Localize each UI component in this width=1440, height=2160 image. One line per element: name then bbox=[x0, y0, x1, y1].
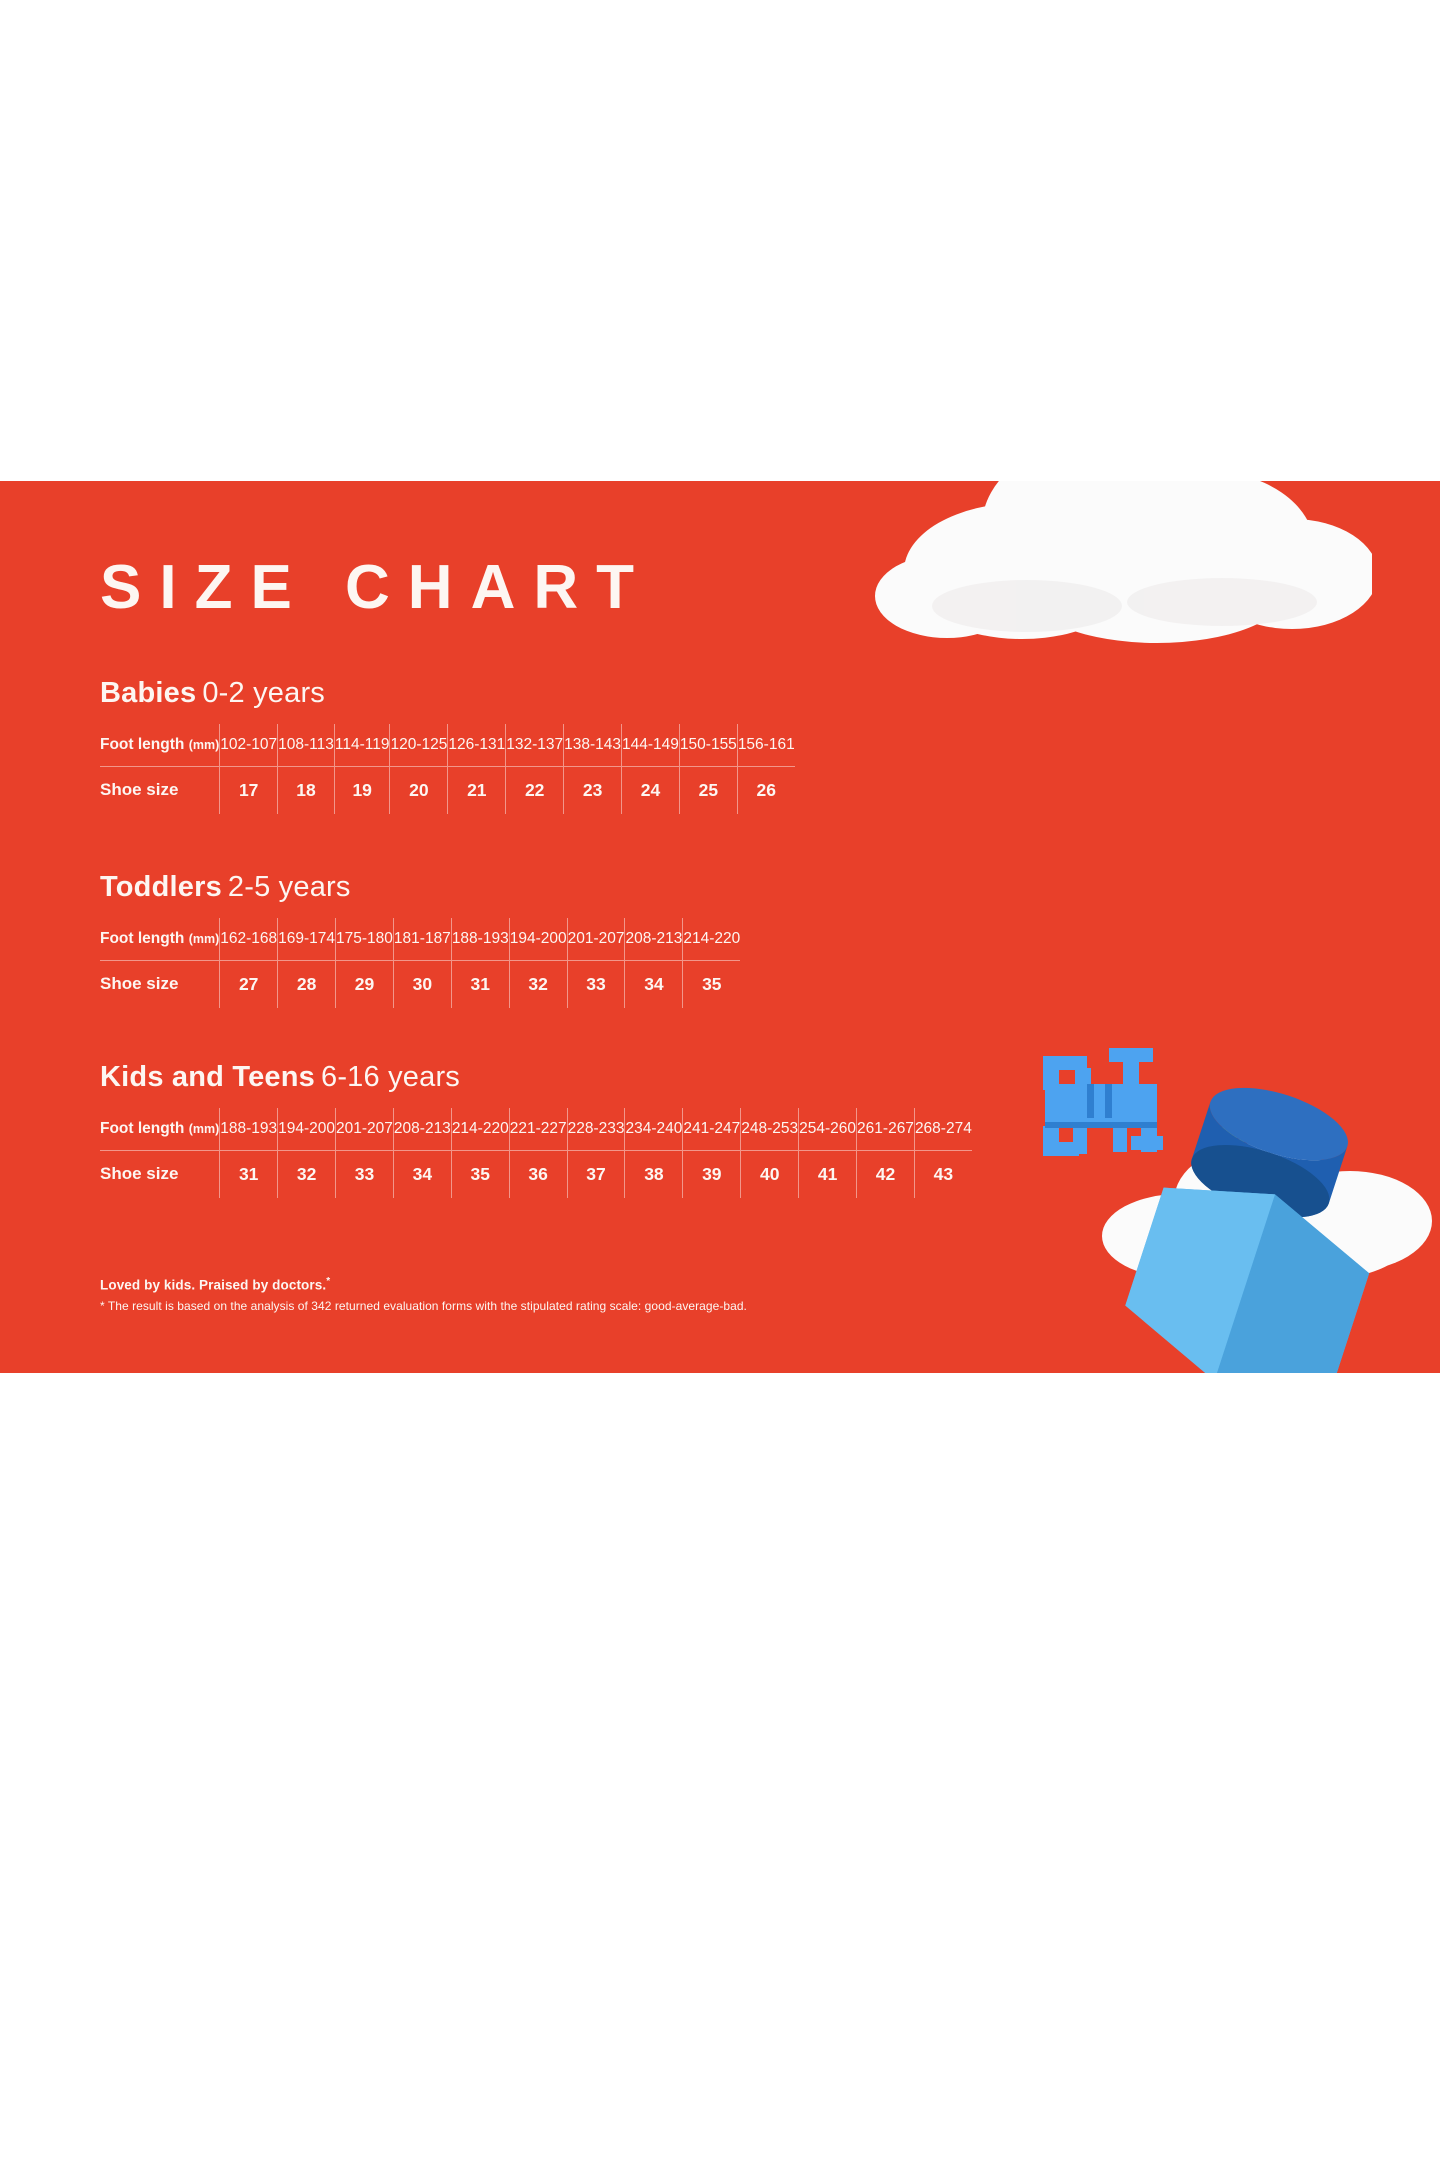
section-age-label: 0-2 years bbox=[202, 677, 325, 709]
invader-blue-icon bbox=[1035, 1044, 1175, 1174]
size-table-babies: Foot length (mm) 102-107 108-113 114-119… bbox=[100, 724, 795, 814]
cell-shoe-size: 26 bbox=[737, 766, 794, 814]
section-group-label: Toddlers bbox=[100, 871, 222, 903]
cell-shoe-size: 19 bbox=[334, 766, 390, 814]
cell-shoe-size: 34 bbox=[393, 1150, 451, 1198]
cell-foot-length: 108-113 bbox=[278, 724, 335, 766]
invader-yellow-icon bbox=[1203, 1121, 1299, 1223]
cell-shoe-size: 36 bbox=[509, 1150, 567, 1198]
foot-length-text: Foot length bbox=[100, 736, 184, 753]
cell-foot-length: 201-207 bbox=[567, 918, 625, 960]
size-table-toddlers: Foot length (mm) 162-168 169-174 175-180… bbox=[100, 918, 740, 1008]
cell-foot-length: 194-200 bbox=[278, 1108, 336, 1150]
row-label-shoe-size: Shoe size bbox=[100, 766, 220, 814]
cell-shoe-size: 38 bbox=[625, 1150, 683, 1198]
cloud-lower-icon bbox=[1070, 1101, 1440, 1301]
cell-foot-length: 138-143 bbox=[564, 724, 622, 766]
cell-shoe-size: 27 bbox=[220, 960, 278, 1008]
cell-foot-length: 181-187 bbox=[393, 918, 451, 960]
cell-foot-length: 208-213 bbox=[625, 918, 683, 960]
foot-length-unit: (mm) bbox=[189, 1122, 220, 1136]
cell-shoe-size: 29 bbox=[336, 960, 394, 1008]
cell-shoe-size: 25 bbox=[679, 766, 737, 814]
row-label-shoe-size: Shoe size bbox=[100, 1150, 220, 1198]
row-label-foot-length: Foot length (mm) bbox=[100, 724, 220, 766]
section-group-label: Kids and Teens bbox=[100, 1061, 315, 1093]
footer: Loved by kids. Praised by doctors.* * Th… bbox=[100, 1276, 747, 1313]
size-table-kids-and-teens: Foot length (mm) 188-193 194-200 201-207… bbox=[100, 1108, 972, 1198]
section-age-label: 2-5 years bbox=[228, 871, 351, 903]
cell-shoe-size: 22 bbox=[506, 766, 564, 814]
footer-slogan: Loved by kids. Praised by doctors.* bbox=[100, 1276, 747, 1293]
cell-shoe-size: 33 bbox=[567, 960, 625, 1008]
cell-shoe-size: 28 bbox=[278, 960, 336, 1008]
cell-shoe-size: 39 bbox=[683, 1150, 741, 1198]
foot-length-unit: (mm) bbox=[189, 738, 220, 752]
page-title: SIZE CHART bbox=[100, 557, 652, 619]
cell-foot-length: 188-193 bbox=[451, 918, 509, 960]
cell-shoe-size: 20 bbox=[390, 766, 448, 814]
cell-shoe-size: 32 bbox=[509, 960, 567, 1008]
cell-foot-length: 114-119 bbox=[334, 724, 390, 766]
cell-shoe-size: 31 bbox=[451, 960, 509, 1008]
row-label-foot-length: Foot length (mm) bbox=[100, 918, 220, 960]
cell-foot-length: 261-267 bbox=[857, 1108, 915, 1150]
cell-foot-length: 144-149 bbox=[622, 724, 680, 766]
cell-shoe-size: 32 bbox=[278, 1150, 336, 1198]
cell-foot-length: 175-180 bbox=[336, 918, 394, 960]
cell-shoe-size: 40 bbox=[741, 1150, 799, 1198]
footer-slogan-marker: * bbox=[326, 1276, 330, 1287]
footer-slogan-text: Loved by kids. Praised by doctors. bbox=[100, 1278, 326, 1293]
cell-foot-length: 120-125 bbox=[390, 724, 448, 766]
cell-shoe-size: 41 bbox=[799, 1150, 857, 1198]
toy-block-icon bbox=[1080, 1051, 1440, 1373]
cell-foot-length: 102-107 bbox=[220, 724, 278, 766]
cell-foot-length: 188-193 bbox=[220, 1108, 278, 1150]
cell-shoe-size: 33 bbox=[336, 1150, 394, 1198]
cell-foot-length: 234-240 bbox=[625, 1108, 683, 1150]
cell-foot-length: 214-220 bbox=[683, 918, 740, 960]
row-label-foot-length: Foot length (mm) bbox=[100, 1108, 220, 1150]
cell-foot-length: 126-131 bbox=[448, 724, 506, 766]
cell-shoe-size: 34 bbox=[625, 960, 683, 1008]
table-row-shoe-size: Shoe size 17 18 19 20 21 22 23 24 25 26 bbox=[100, 766, 795, 814]
foot-length-text: Foot length bbox=[100, 1120, 184, 1137]
cell-shoe-size: 24 bbox=[622, 766, 680, 814]
section-babies: Babies0-2 years Foot length (mm) 102-107… bbox=[100, 679, 795, 814]
cloud-upper-icon bbox=[772, 481, 1372, 666]
cell-foot-length: 208-213 bbox=[393, 1108, 451, 1150]
cell-shoe-size: 30 bbox=[393, 960, 451, 1008]
cell-shoe-size: 42 bbox=[857, 1150, 915, 1198]
cell-shoe-size: 35 bbox=[683, 960, 740, 1008]
section-toddlers: Toddlers2-5 years Foot length (mm) 162-1… bbox=[100, 873, 740, 1008]
cell-foot-length: 194-200 bbox=[509, 918, 567, 960]
cell-foot-length: 254-260 bbox=[799, 1108, 857, 1150]
cell-shoe-size: 37 bbox=[567, 1150, 625, 1198]
cell-foot-length: 169-174 bbox=[278, 918, 336, 960]
cell-shoe-size: 17 bbox=[220, 766, 278, 814]
section-heading-toddlers: Toddlers2-5 years bbox=[100, 873, 740, 902]
cell-shoe-size: 18 bbox=[278, 766, 335, 814]
cell-foot-length: 248-253 bbox=[741, 1108, 799, 1150]
section-heading-kids-and-teens: Kids and Teens6-16 years bbox=[100, 1063, 972, 1092]
cell-shoe-size: 31 bbox=[220, 1150, 278, 1198]
cell-foot-length: 201-207 bbox=[336, 1108, 394, 1150]
cell-foot-length: 150-155 bbox=[679, 724, 737, 766]
cell-foot-length: 156-161 bbox=[737, 724, 794, 766]
section-group-label: Babies bbox=[100, 677, 196, 709]
foot-length-text: Foot length bbox=[100, 930, 184, 947]
section-kids-and-teens: Kids and Teens6-16 years Foot length (mm… bbox=[100, 1063, 972, 1198]
cell-foot-length: 268-274 bbox=[914, 1108, 971, 1150]
cell-foot-length: 228-233 bbox=[567, 1108, 625, 1150]
footer-note: * The result is based on the analysis of… bbox=[100, 1299, 747, 1313]
cell-foot-length: 221-227 bbox=[509, 1108, 567, 1150]
cell-shoe-size: 21 bbox=[448, 766, 506, 814]
table-row-shoe-size: Shoe size 27 28 29 30 31 32 33 34 35 bbox=[100, 960, 740, 1008]
cell-shoe-size: 43 bbox=[914, 1150, 971, 1198]
table-row-shoe-size: Shoe size 31 32 33 34 35 36 37 38 39 40 … bbox=[100, 1150, 972, 1198]
table-row-foot-length: Foot length (mm) 188-193 194-200 201-207… bbox=[100, 1108, 972, 1150]
cell-shoe-size: 23 bbox=[564, 766, 622, 814]
section-heading-babies: Babies0-2 years bbox=[100, 679, 795, 708]
cell-foot-length: 241-247 bbox=[683, 1108, 741, 1150]
cell-foot-length: 132-137 bbox=[506, 724, 564, 766]
section-age-label: 6-16 years bbox=[321, 1061, 460, 1093]
row-label-shoe-size: Shoe size bbox=[100, 960, 220, 1008]
foot-length-unit: (mm) bbox=[189, 932, 220, 946]
table-row-foot-length: Foot length (mm) 162-168 169-174 175-180… bbox=[100, 918, 740, 960]
table-row-foot-length: Foot length (mm) 102-107 108-113 114-119… bbox=[100, 724, 795, 766]
cell-foot-length: 162-168 bbox=[220, 918, 278, 960]
cell-shoe-size: 35 bbox=[451, 1150, 509, 1198]
cell-foot-length: 214-220 bbox=[451, 1108, 509, 1150]
